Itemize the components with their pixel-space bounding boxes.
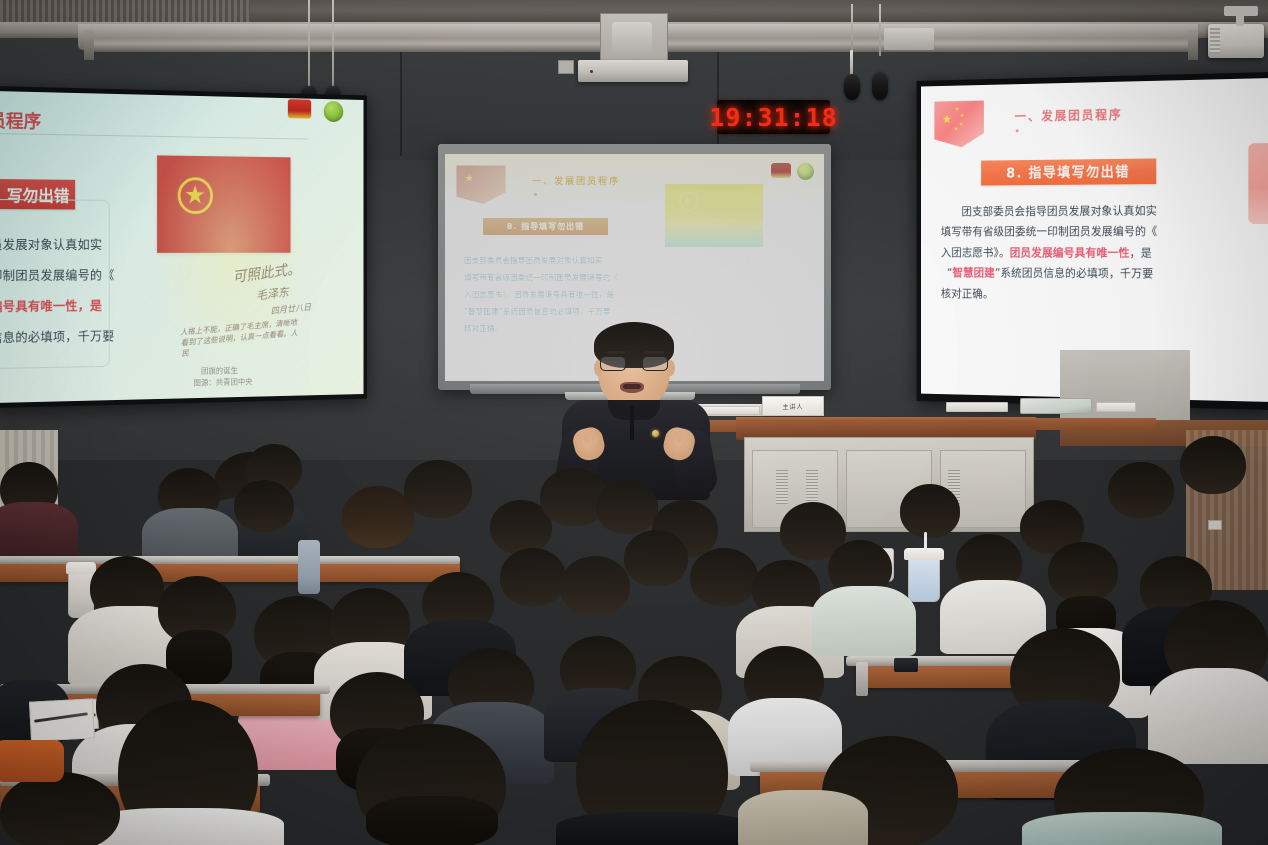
presenter-name-card: 主讲人 — [762, 396, 824, 416]
speaker-cable — [851, 4, 853, 52]
student-head — [234, 480, 294, 532]
student-body — [0, 502, 78, 564]
wall-outlet — [1208, 520, 1222, 530]
handwriting-line: 四月廿八日 — [744, 283, 769, 290]
student-head — [624, 530, 688, 586]
speaker-cable — [332, 0, 334, 88]
drink-cup — [908, 556, 940, 602]
student-head — [342, 486, 414, 548]
left-projection-screen: 员程序 写勿出错 员发展对象认真如实 印制团员发展编号的《 编号具有唯一性，是 … — [0, 86, 367, 408]
student-jacket — [738, 790, 868, 845]
header-rule — [0, 133, 309, 139]
green-leaf-badge — [797, 163, 814, 180]
cyl-flag-image: ★ — [665, 184, 764, 248]
presenter-eyebrow — [644, 351, 664, 354]
center-body-line: “智慧团建”系统团员信息的必填项，千万要 — [464, 303, 623, 320]
presenter-mouth-inner — [623, 384, 641, 389]
left-slide-surface: 员程序 写勿出错 员发展对象认真如实 印制团员发展编号的《 编号具有唯一性，是 … — [0, 91, 364, 403]
cyl-star-icon: ★ — [682, 194, 694, 207]
clock-time-display: 19:31:18 — [709, 105, 837, 130]
drink-straw — [924, 532, 927, 552]
student-head — [596, 480, 658, 534]
body-callout-box — [0, 199, 110, 370]
student-body — [556, 812, 752, 845]
projector-vent — [1210, 28, 1220, 54]
wall-seam — [400, 36, 402, 156]
header-dot — [1016, 129, 1019, 132]
cyl-emblem-badge — [771, 163, 791, 178]
student-head — [1108, 462, 1174, 518]
body-line-mixed: “智慧团建”系统团员信息的必填项，千万要 — [941, 263, 1254, 286]
center-slide-banner: 8. 指导填写勿出错 — [483, 218, 608, 235]
side-desk-right — [1036, 418, 1156, 430]
student-head — [0, 772, 120, 845]
body-line: 填写带有省级团委统一印制团员发展编号的《 — [941, 221, 1254, 242]
desk-bracket — [856, 662, 868, 696]
china-flag-icon: ★ ★ ★ ★ ★ — [934, 100, 984, 147]
student-head — [1180, 436, 1246, 494]
right-slide-body: 团支部委员会指导团员发展对象认真如实 填写带有省级团委统一印制团员发展编号的《 … — [941, 200, 1254, 307]
lectern-vent — [806, 470, 818, 504]
presenter-eyebrow — [606, 351, 626, 354]
body-line: 核对正确。 — [941, 283, 1254, 306]
center-slide-header: 一、发展团员程序 — [532, 174, 620, 187]
student-body — [1022, 812, 1222, 845]
glasses-bridge — [626, 362, 642, 364]
speaker-cable — [879, 4, 881, 56]
student-head — [1048, 542, 1118, 602]
student-head — [900, 484, 960, 538]
laptop-lid — [1020, 398, 1092, 414]
wall-mounted-box — [884, 28, 934, 50]
body-text-plain: ”系统团员信息的必填项，千万要 — [995, 266, 1154, 280]
name-card-text: 主讲人 — [782, 402, 803, 411]
presenter-placket — [630, 406, 634, 440]
phone — [894, 658, 918, 672]
equipment-led-icon — [590, 70, 593, 73]
center-body-line: 填写带有省级团委统一印制团员发展编号的《 — [464, 269, 623, 286]
hanging-speaker — [844, 74, 860, 100]
wall-equipment-inner — [612, 22, 652, 54]
body-text-highlight: 智慧团建 — [953, 266, 995, 280]
orange-item — [0, 740, 64, 782]
body-text-highlight: 团员发展编号具有唯一性 — [1010, 245, 1130, 259]
lectern-vent — [776, 470, 788, 504]
digital-wall-clock: 19:31:18 — [717, 100, 830, 134]
ceiling-vent — [0, 0, 250, 22]
flag-star-icon: ★ — [465, 174, 473, 183]
body-text-plain: 入团志愿书》。 — [941, 245, 1010, 259]
student-head — [404, 460, 472, 518]
flag-star-icon: ★ — [959, 122, 963, 127]
body-line: 团支部委员会指导团员发展对象认真如实 — [941, 200, 1254, 222]
projector-mount-post — [1236, 14, 1244, 26]
center-body-line: 团支部委员会指导团员发展对象认真如实 — [464, 252, 623, 269]
student-head — [560, 556, 630, 616]
student-body — [1148, 668, 1268, 764]
flag-star-icon: ★ — [955, 107, 959, 112]
finger — [683, 432, 690, 447]
roller-bracket — [1188, 30, 1198, 60]
paper-stack — [1096, 402, 1136, 412]
student-head — [500, 548, 566, 606]
handwriting-line: 毛泽东 — [733, 271, 755, 283]
hanging-speaker — [872, 72, 888, 100]
flag-star-icon: ★ — [960, 114, 964, 119]
cup-lid — [66, 562, 96, 574]
flag-caption-source: 图源：共青团中央 — [194, 377, 253, 389]
body-line-mixed: 入团志愿书》。团员发展编号具有唯一性，是 — [941, 242, 1254, 264]
china-flag-icon: ★ — [456, 165, 505, 204]
student-body — [812, 586, 916, 656]
eyeglasses-icon — [600, 356, 668, 371]
glasses-lens — [600, 356, 626, 371]
handwriting-line: 可照此式。 — [717, 254, 758, 270]
glasses-lens — [642, 356, 668, 371]
flag-star-icon: ★ — [954, 128, 958, 133]
roller-bracket — [84, 30, 94, 60]
presenter-mouth — [620, 382, 644, 393]
mic-stem — [850, 50, 853, 76]
green-leaf-badge — [324, 101, 344, 122]
flag-caption: 团旗的诞生 — [201, 365, 238, 376]
lecture-hall-scene: 19:31:18 员程序 写勿出错 员发展对象认真如实 印制团员发展编号的《 编… — [0, 0, 1268, 845]
presenter-button — [652, 430, 659, 437]
hair-ponytail — [366, 796, 498, 845]
presenter-collar — [608, 400, 660, 420]
paper-stack — [946, 402, 1008, 412]
cyl-emblem-badge — [288, 99, 311, 119]
water-bottle — [298, 540, 320, 594]
center-body-line: 入团志愿书》。团员发展编号具有唯一性，是 — [464, 286, 623, 303]
right-slide-banner: 8. 指导填写勿出错 — [981, 159, 1157, 186]
speaker-cable — [308, 0, 310, 88]
right-slide-header: 一、发展团员程序 — [1015, 104, 1123, 125]
student-head — [690, 548, 758, 606]
body-text-plain: ，是 — [1130, 245, 1152, 259]
wall-equipment-shelf — [578, 60, 688, 82]
left-slide-header: 员程序 — [0, 107, 41, 134]
flag-star-icon: ★ — [942, 113, 952, 125]
header-dot — [534, 193, 537, 196]
handwriting-block: 人格上不能，正确了毛主席，清晰地看到了这些说明，认真一点看看。人民 — [680, 297, 760, 318]
wall-plate — [558, 60, 574, 74]
